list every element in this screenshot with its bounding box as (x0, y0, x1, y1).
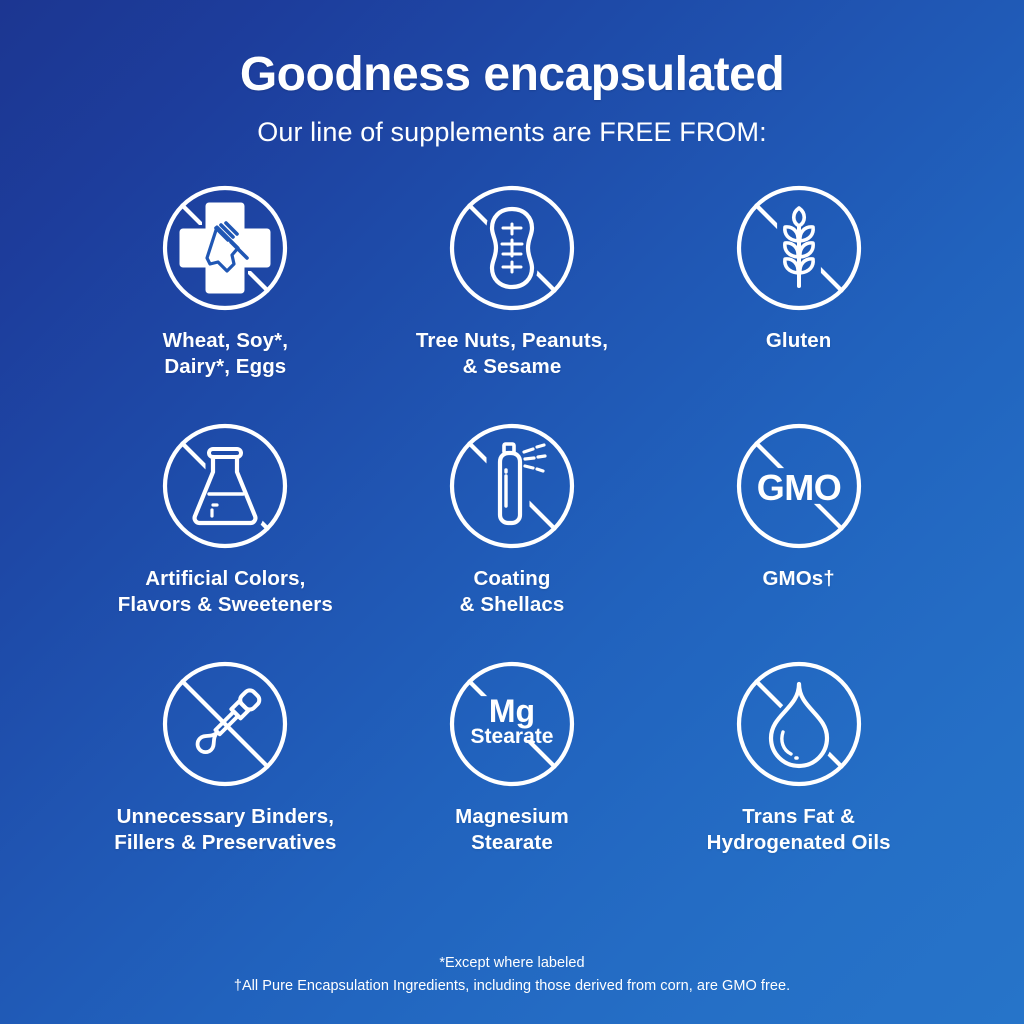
free-from-poster: Goodness encapsulated Our line of supple… (0, 0, 1024, 1024)
grid-item-label: GMOs† (763, 566, 835, 592)
no-allergen-cross-fork-icon (161, 184, 289, 312)
grid-item-label: Gluten (766, 328, 832, 354)
grid-item-label: Coating & Shellacs (460, 566, 565, 618)
page-title: Goodness encapsulated (0, 48, 1024, 102)
grid-item-gluten: Gluten (655, 184, 942, 422)
no-peanut-icon (448, 184, 576, 312)
grid-item-label: Artificial Colors, Flavors & Sweeteners (118, 566, 333, 618)
free-from-grid: Wheat, Soy*, Dairy*, Eggs (82, 184, 942, 898)
no-dropper-icon (161, 660, 289, 788)
no-wheat-stalk-icon (735, 184, 863, 312)
grid-item-gmo: GMO GMOs† (655, 422, 942, 660)
grid-item-label: Magnesium Stearate (455, 804, 569, 856)
grid-item-binders: Unnecessary Binders, Fillers & Preservat… (82, 660, 369, 898)
poster-header: Goodness encapsulated Our line of supple… (0, 0, 1024, 148)
footnote-gmo-free: †All Pure Encapsulation Ingredients, inc… (0, 975, 1024, 998)
grid-item-label: Wheat, Soy*, Dairy*, Eggs (163, 328, 288, 380)
footnote-except-where-labeled: *Except where labeled (0, 952, 1024, 975)
grid-item-artificial-colors: Artificial Colors, Flavors & Sweeteners (82, 422, 369, 660)
footnotes: *Except where labeled †All Pure Encapsul… (0, 952, 1024, 998)
grid-item-label: Trans Fat & Hydrogenated Oils (707, 804, 891, 856)
mg-icon-text: Mg (489, 693, 535, 729)
grid-item-allergens: Wheat, Soy*, Dairy*, Eggs (82, 184, 369, 422)
no-flask-icon (161, 422, 289, 550)
no-magnesium-stearate-icon: Mg Stearate (448, 660, 576, 788)
grid-item-nuts: Tree Nuts, Peanuts, & Sesame (369, 184, 656, 422)
grid-item-trans-fat: Trans Fat & Hydrogenated Oils (655, 660, 942, 898)
grid-item-magnesium-stearate: Mg Stearate Magnesium Stearate (369, 660, 656, 898)
stearate-icon-text: Stearate (471, 725, 554, 748)
grid-item-label: Unnecessary Binders, Fillers & Preservat… (114, 804, 336, 856)
grid-item-label: Tree Nuts, Peanuts, & Sesame (416, 328, 608, 380)
no-gmo-icon: GMO (735, 422, 863, 550)
gmo-icon-text: GMO (756, 467, 841, 508)
no-spray-can-icon (448, 422, 576, 550)
grid-item-coating: Coating & Shellacs (369, 422, 656, 660)
page-subtitle: Our line of supplements are FREE FROM: (0, 116, 1024, 148)
no-oil-droplet-icon (735, 660, 863, 788)
